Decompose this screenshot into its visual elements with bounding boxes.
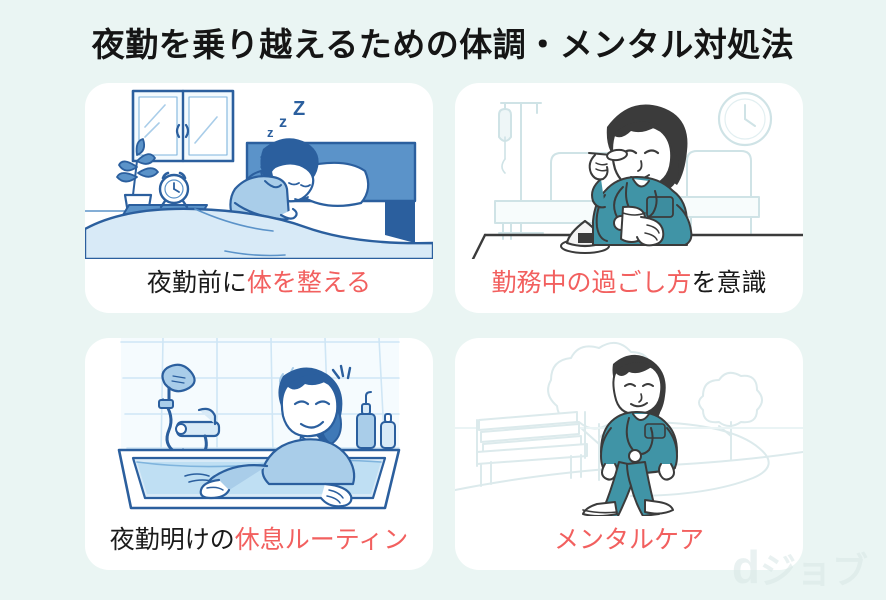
caption-highlight: メンタルケア — [554, 526, 704, 554]
relaxing-in-bathtub-illustration — [85, 338, 433, 516]
card-caption: 夜勤明けの休息ルーティン — [85, 520, 433, 556]
caption-highlight: 体を整える — [247, 269, 371, 297]
caption-plain-2: を意識 — [692, 269, 767, 297]
caption-plain-1: 夜勤前に — [147, 269, 247, 297]
caption-plain-1: 夜勤明けの — [110, 526, 235, 554]
card-caption: 夜勤前に体を整える — [85, 263, 433, 299]
page-title: 夜勤を乗り越えるための体調・メンタル対処法 — [0, 18, 886, 66]
infographic-page: 夜勤を乗り越えるための体調・メンタル対処法 — [0, 0, 886, 600]
svg-text:Z: Z — [293, 98, 305, 120]
card-pre-shift: z z Z 夜勤前に体を整える — [85, 83, 433, 313]
nurse-eating-meal-illustration — [455, 83, 803, 259]
card-caption: メンタルケア — [455, 520, 803, 556]
card-mental-care: メンタルケア — [455, 338, 803, 570]
caption-highlight: 休息ルーティン — [235, 526, 409, 554]
caption-highlight: 勤務中の過ごし方 — [491, 269, 691, 297]
card-after-shift: 夜勤明けの休息ルーティン — [85, 338, 433, 570]
svg-text:z: z — [267, 125, 274, 140]
sleeping-in-bed-illustration: z z Z — [85, 83, 433, 259]
nurse-walking-in-park-illustration — [455, 338, 803, 516]
svg-text:z: z — [279, 114, 287, 131]
card-caption: 勤務中の過ごし方を意識 — [455, 263, 803, 299]
card-during-shift: 勤務中の過ごし方を意識 — [455, 83, 803, 313]
